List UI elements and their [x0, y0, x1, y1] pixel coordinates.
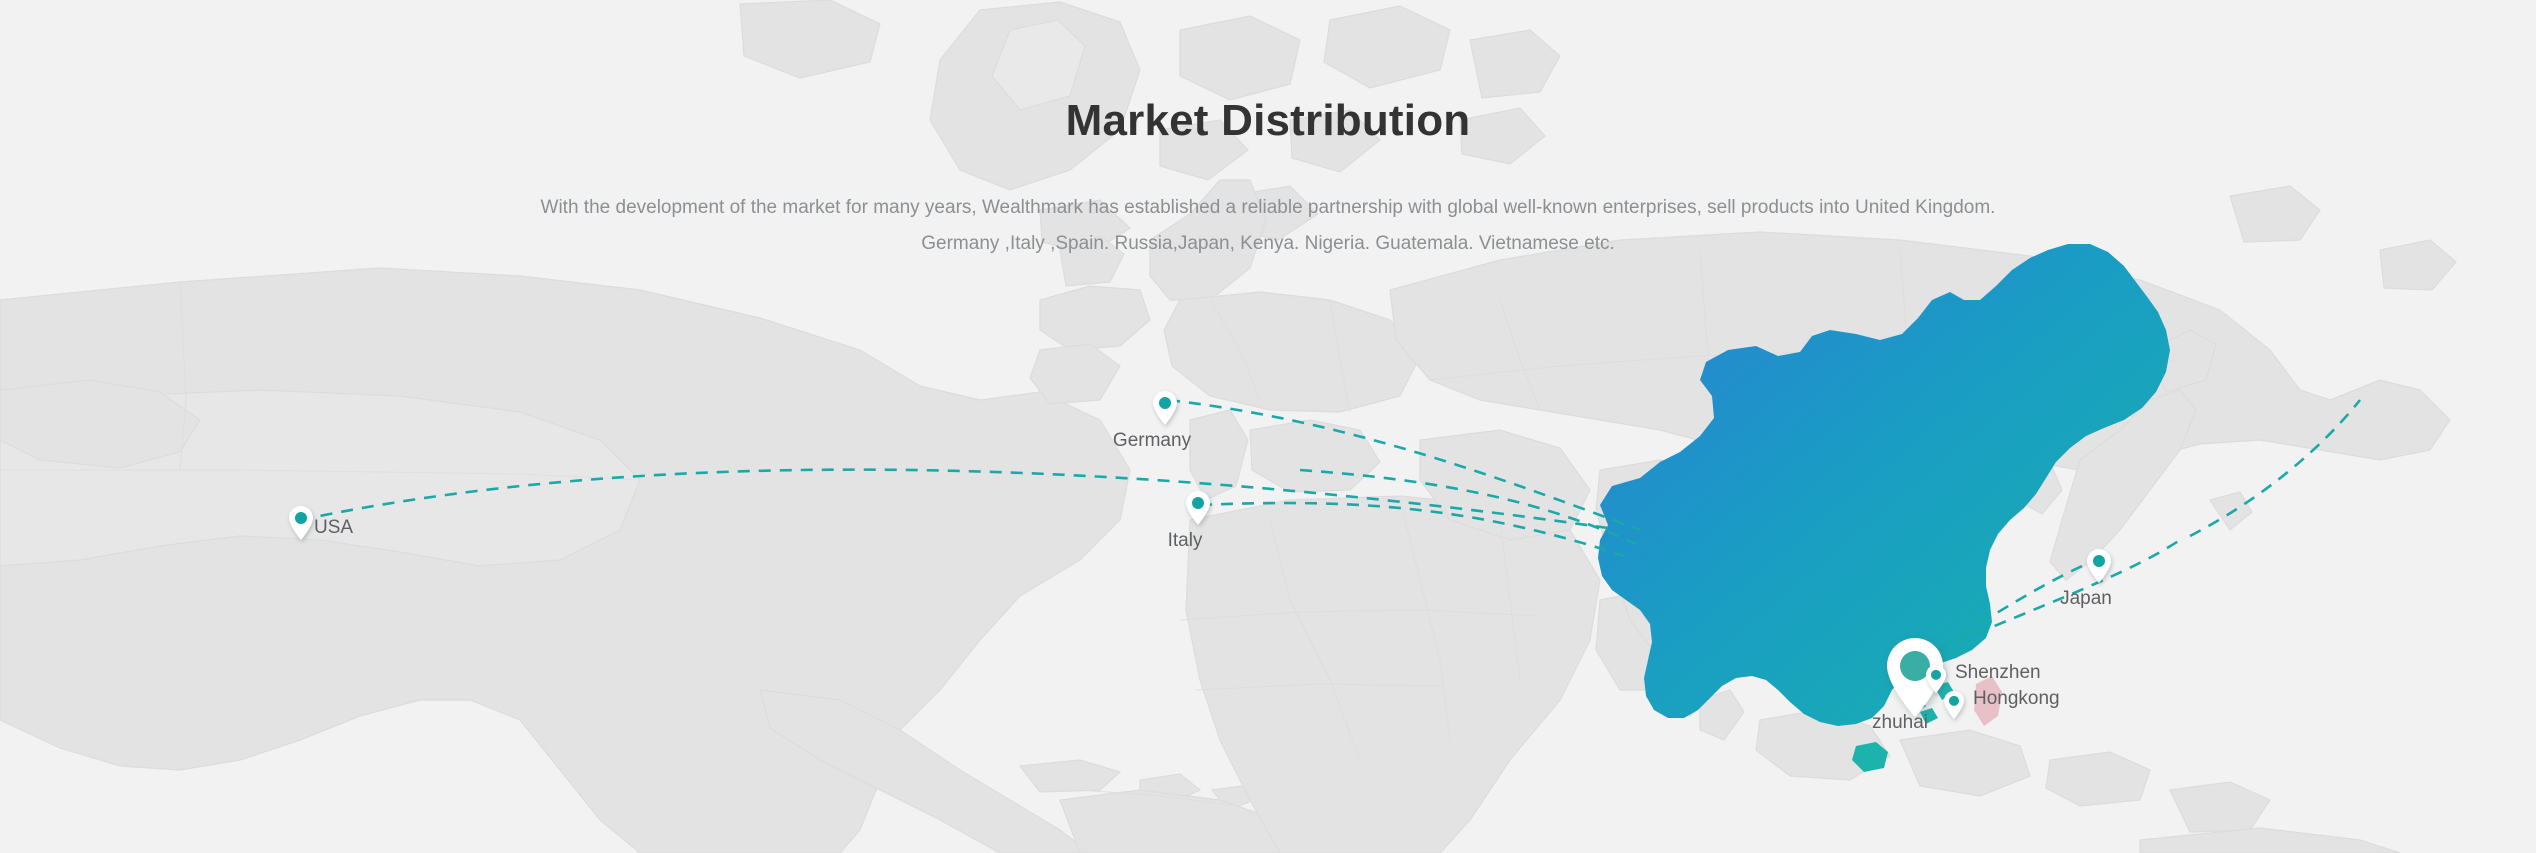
location-pin-icon — [1152, 390, 1178, 426]
page-title: Market Distribution — [0, 96, 2536, 146]
map-marker-label-hongkong: Hongkong — [1973, 688, 2060, 710]
location-pin-icon — [1943, 690, 1965, 720]
map-marker-label-usa: USA — [314, 517, 353, 539]
location-pin-icon — [2086, 548, 2112, 584]
map-marker-label-shenzhen: Shenzhen — [1955, 662, 2041, 684]
map-marker-label-zhuhai: zhuhai — [1872, 712, 1928, 734]
location-pin-icon — [1185, 490, 1211, 526]
map-marker-label-japan: Japan — [2060, 588, 2112, 610]
market-distribution-map-section: Market Distribution With the development… — [0, 0, 2536, 853]
location-pin-icon — [288, 505, 314, 541]
intro-paragraph: With the development of the market for m… — [408, 190, 2128, 262]
intro-line-2: Germany ,Italy ,Spain. Russia,Japan, Ken… — [408, 226, 2128, 262]
map-marker-label-germany: Germany — [1113, 430, 1191, 452]
map-marker-label-italy: Italy — [1168, 530, 1203, 552]
intro-line-1: With the development of the market for m… — [408, 190, 2128, 226]
section-header: Market Distribution With the development… — [0, 96, 2536, 262]
